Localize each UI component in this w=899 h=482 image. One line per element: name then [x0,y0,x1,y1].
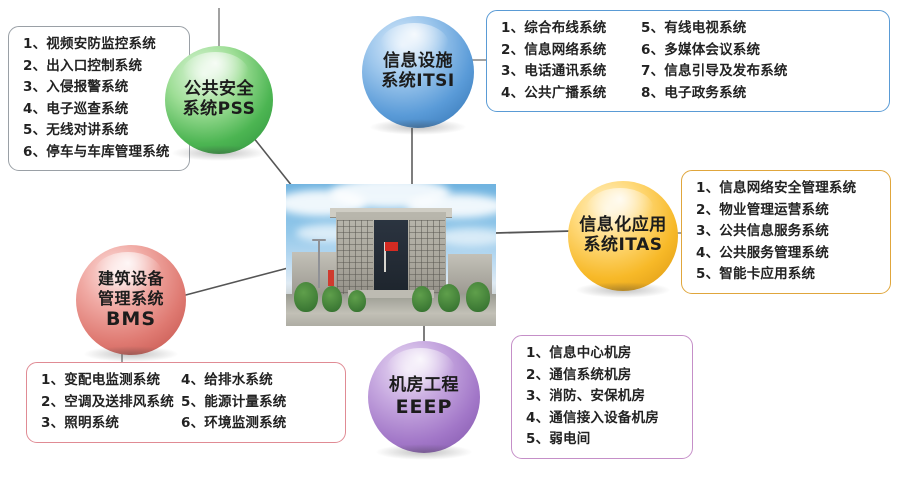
diagram-canvas: 1、视频安防监控系统 2、出入口控制系统 3、入侵报警系统 4、电子巡查系统 5… [0,0,899,482]
list-item: 2、物业管理运营系统 [696,200,878,222]
itas-label-line1: 信息化应用 [579,215,667,235]
list-item: 2、空调及送排风系统 5、能源计量系统 [41,392,333,414]
list-item: 2、通信系统机房 [526,365,680,387]
node-sphere-eeep[interactable]: 机房工程 EEEP [368,341,480,453]
node-sphere-itsi[interactable]: 信息设施 系统ITSI [362,16,474,128]
list-item: 1、综合布线系统 5、有线电视系统 [501,18,877,40]
bms-label-line2: 管理系统 [98,289,164,308]
list-item: 3、公共信息服务系统 [696,221,878,243]
list-box-eeep: 1、信息中心机房 2、通信系统机房 3、消防、安保机房 4、通信接入设备机房 5… [511,335,693,459]
itas-item-4: 4、公共服务管理系统 [696,243,829,265]
itas-item-3: 3、公共信息服务系统 [696,221,829,243]
list-item: 5、弱电间 [526,429,680,451]
eeep-label-line2: EEEP [396,396,453,418]
eeep-item-2: 2、通信系统机房 [526,365,632,387]
list-item: 4、通信接入设备机房 [526,408,680,430]
pss-item-5: 5、无线对讲系统 [23,120,129,142]
list-item: 3、电话通讯系统 7、信息引导及发布系统 [501,61,877,83]
itsi-item-8: 8、电子政务系统 [641,83,747,105]
bms-item-1: 1、变配电监测系统 [41,370,181,392]
itsi-item-5: 5、有线电视系统 [641,18,747,40]
eeep-label-line1: 机房工程 [389,375,459,395]
pss-item-6: 6、停车与车库管理系统 [23,142,170,164]
pss-item-4: 4、电子巡查系统 [23,99,129,121]
list-item: 5、智能卡应用系统 [696,264,878,286]
node-sphere-bms[interactable]: 建筑设备 管理系统 BMS [76,245,186,355]
itsi-label-line2: 系统ITSI [381,71,455,91]
connector-bms-to-photo [182,268,288,296]
list-item: 2、出入口控制系统 [23,56,177,78]
list-item: 4、电子巡查系统 [23,99,177,121]
list-item: 4、公共广播系统 8、电子政务系统 [501,83,877,105]
bms-label-line1: 建筑设备 [98,269,164,288]
connector-itas-to-photo [496,231,572,233]
itsi-label-line1: 信息设施 [383,51,453,71]
itas-label-line2: 系统ITAS [583,235,662,255]
itas-item-5: 5、智能卡应用系统 [696,264,815,286]
eeep-item-5: 5、弱电间 [526,429,590,451]
bms-item-4: 4、给排水系统 [181,370,273,392]
pss-item-1: 1、视频安防监控系统 [23,34,156,56]
eeep-item-1: 1、信息中心机房 [526,343,632,365]
list-box-bms: 1、变配电监测系统 4、给排水系统 2、空调及送排风系统 5、能源计量系统 3、… [26,362,346,443]
node-sphere-pss[interactable]: 公共安全 系统PSS [165,46,273,154]
eeep-item-3: 3、消防、安保机房 [526,386,645,408]
itsi-item-6: 6、多媒体会议系统 [641,40,760,62]
list-item: 1、信息网络安全管理系统 [696,178,878,200]
bms-item-5: 5、能源计量系统 [181,392,287,414]
list-box-itas: 1、信息网络安全管理系统 2、物业管理运营系统 3、公共信息服务系统 4、公共服… [681,170,891,294]
list-item: 1、信息中心机房 [526,343,680,365]
bms-item-2: 2、空调及送排风系统 [41,392,181,414]
pss-label-line1: 公共安全 [184,79,254,99]
list-item: 3、照明系统 6、环境监测系统 [41,413,333,435]
itsi-item-4: 4、公共广播系统 [501,83,641,105]
itsi-item-3: 3、电话通讯系统 [501,61,641,83]
itsi-item-2: 2、信息网络系统 [501,40,641,62]
itsi-item-7: 7、信息引导及发布系统 [641,61,788,83]
itsi-item-1: 1、综合布线系统 [501,18,641,40]
bms-label-line3: BMS [106,308,156,330]
list-item: 1、视频安防监控系统 [23,34,177,56]
list-item: 5、无线对讲系统 [23,120,177,142]
bms-item-6: 6、环境监测系统 [181,413,287,435]
center-building-photo [286,184,496,326]
connector-pss-to-photo [253,137,292,186]
list-item: 1、变配电监测系统 4、给排水系统 [41,370,333,392]
list-item: 4、公共服务管理系统 [696,243,878,265]
list-item: 3、入侵报警系统 [23,77,177,99]
list-box-itsi: 1、综合布线系统 5、有线电视系统 2、信息网络系统 6、多媒体会议系统 3、电… [486,10,890,112]
pss-item-3: 3、入侵报警系统 [23,77,129,99]
itas-item-1: 1、信息网络安全管理系统 [696,178,856,200]
node-sphere-itas[interactable]: 信息化应用 系统ITAS [568,181,678,291]
list-item: 6、停车与车库管理系统 [23,142,177,164]
eeep-item-4: 4、通信接入设备机房 [526,408,659,430]
list-item: 2、信息网络系统 6、多媒体会议系统 [501,40,877,62]
list-box-pss: 1、视频安防监控系统 2、出入口控制系统 3、入侵报警系统 4、电子巡查系统 5… [8,26,190,171]
list-item: 3、消防、安保机房 [526,386,680,408]
pss-item-2: 2、出入口控制系统 [23,56,142,78]
itas-item-2: 2、物业管理运营系统 [696,200,829,222]
bms-item-3: 3、照明系统 [41,413,181,435]
pss-label-line2: 系统PSS [183,99,256,119]
